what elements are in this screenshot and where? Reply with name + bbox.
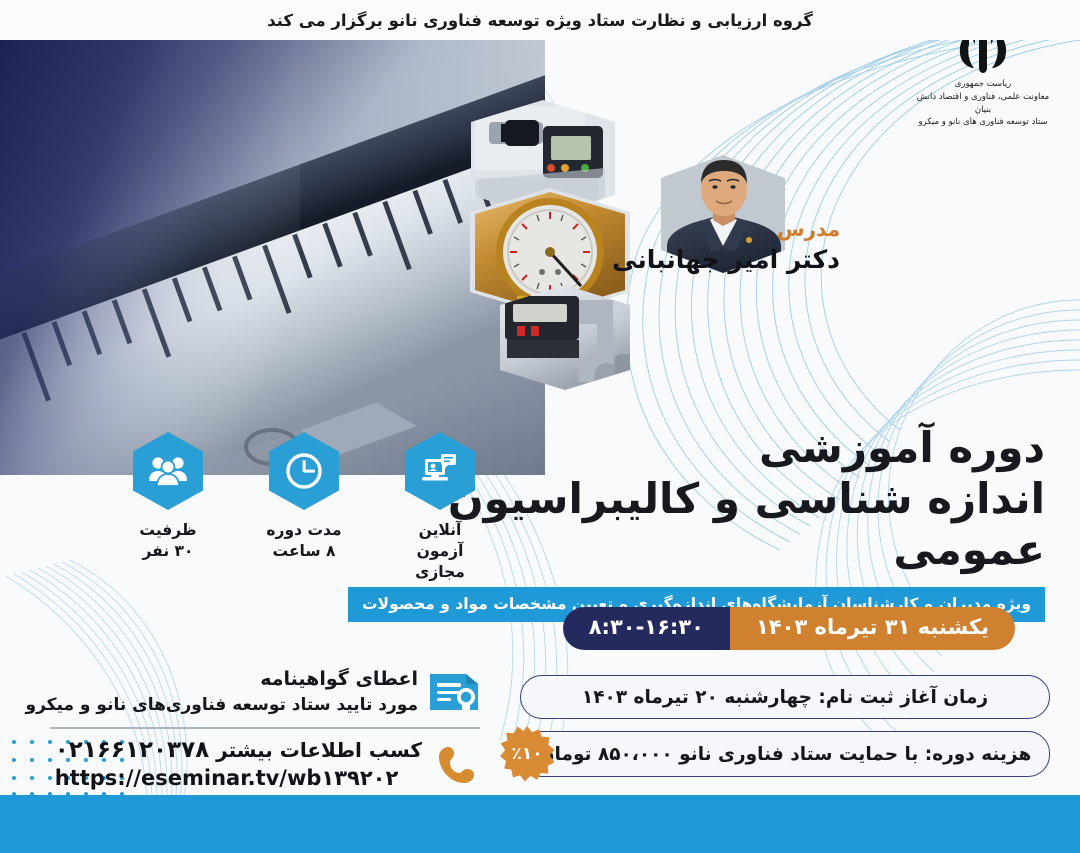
discount-badge: ٪۱۰ xyxy=(499,726,555,782)
instructor-name: دکتر امیر جهانبانی xyxy=(612,246,840,274)
contact-url[interactable]: https://eseminar.tv/wb۱۳۹۲۰۲ xyxy=(55,765,422,792)
footer-bar xyxy=(0,795,1080,853)
online-exam-icon xyxy=(421,452,459,490)
contact-phone[interactable]: ۰۲۱۶۶۱۲۰۳۷۸ xyxy=(55,737,209,763)
poster-root: گروه ارزیابی و نظارت ستاد ویژه توسعه فنا… xyxy=(0,0,1080,853)
micrometer-photo xyxy=(500,285,637,396)
feature-label-line1: مدت دوره xyxy=(266,521,341,539)
duration-hex xyxy=(269,432,339,510)
contact-block: کسب اطلاعات بیشتر ۰۲۱۶۶۱۲۰۳۷۸ https://es… xyxy=(55,736,480,792)
instructor-role-label: مدرس xyxy=(612,218,840,240)
certificate-line2: مورد تایید ستاد توسعه فناوری‌های نانو و … xyxy=(26,694,418,717)
registration-label: زمان آغاز ثبت نام: چهارشنبه ۲۰ تیرماه ۱۴… xyxy=(582,687,988,708)
feature-row: آنلاین آزمون مجازی مدت دوره ۸ ساعت xyxy=(55,432,485,572)
certificate-block: اعطای گواهینامه مورد تایید ستاد توسعه فن… xyxy=(26,668,480,717)
registration-pill: زمان آغاز ثبت نام: چهارشنبه ۲۰ تیرماه ۱۴… xyxy=(520,675,1050,719)
contact-text: کسب اطلاعات بیشتر ۰۲۱۶۶۱۲۰۳۷۸ https://es… xyxy=(55,736,422,792)
fee-label: هزینه دوره: با حمایت ستاد فناوری نانو ۸۵… xyxy=(539,744,1032,765)
feature-label-line1: آنلاین xyxy=(419,521,462,539)
certificate-icon xyxy=(428,670,480,714)
contact-line: کسب اطلاعات بیشتر ۰۲۱۶۶۱۲۰۳۷۸ xyxy=(55,736,422,765)
certificate-text: اعطای گواهینامه مورد تایید ستاد توسعه فن… xyxy=(26,668,418,717)
logo-line-2: معاونت علمی، فناوری و اقتصاد دانش بنیان xyxy=(908,91,1058,117)
schedule-row: یکشنبه ۳۱ تیرماه ۱۴۰۳ ۸:۳۰-۱۶:۳۰ xyxy=(563,607,1015,650)
online-exam-hex xyxy=(405,432,475,510)
feature-online-exam: آنلاین آزمون مجازی xyxy=(395,432,485,583)
feature-label-line2: آزمون مجازی xyxy=(415,542,465,581)
discount-badge-text: ٪۱۰ xyxy=(511,744,542,764)
logo-line-3: ستاد توسعه فناوری های نانو و میکرو xyxy=(908,116,1058,129)
fee-pill: هزینه دوره: با حمایت ستاد فناوری نانو ۸۵… xyxy=(520,731,1050,777)
contact-divider xyxy=(50,727,480,729)
phone-icon[interactable] xyxy=(434,741,480,787)
schedule-date: یکشنبه ۳۱ تیرماه ۱۴۰۳ xyxy=(730,607,1015,650)
feature-label-line2: ۸ ساعت xyxy=(273,542,336,560)
feature-online-exam-label: آنلاین آزمون مجازی xyxy=(395,520,485,583)
feature-label-line2: ۳۰ نفر xyxy=(143,542,194,560)
organizer-header: گروه ارزیابی و نظارت ستاد ویژه توسعه فنا… xyxy=(0,0,1080,40)
schedule-time: ۸:۳۰-۱۶:۳۰ xyxy=(563,607,730,650)
capacity-hex xyxy=(133,432,203,510)
clock-icon xyxy=(284,451,324,491)
feature-duration: مدت دوره ۸ ساعت xyxy=(259,432,349,562)
feature-capacity: ظرفیت ۳۰ نفر xyxy=(123,432,213,562)
certificate-line1: اعطای گواهینامه xyxy=(26,668,418,692)
feature-capacity-label: ظرفیت ۳۰ نفر xyxy=(123,520,213,562)
feature-duration-label: مدت دوره ۸ ساعت xyxy=(259,520,349,562)
organizer-text: گروه ارزیابی و نظارت ستاد ویژه توسعه فنا… xyxy=(267,11,813,30)
contact-label: کسب اطلاعات بیشتر xyxy=(216,738,422,762)
logo-line-1: ریاست جمهوری xyxy=(908,78,1058,91)
feature-label-line1: ظرفیت xyxy=(139,521,196,539)
people-icon xyxy=(148,454,188,488)
instructor-block: مدرس دکتر امیر جهانبانی xyxy=(612,218,840,274)
